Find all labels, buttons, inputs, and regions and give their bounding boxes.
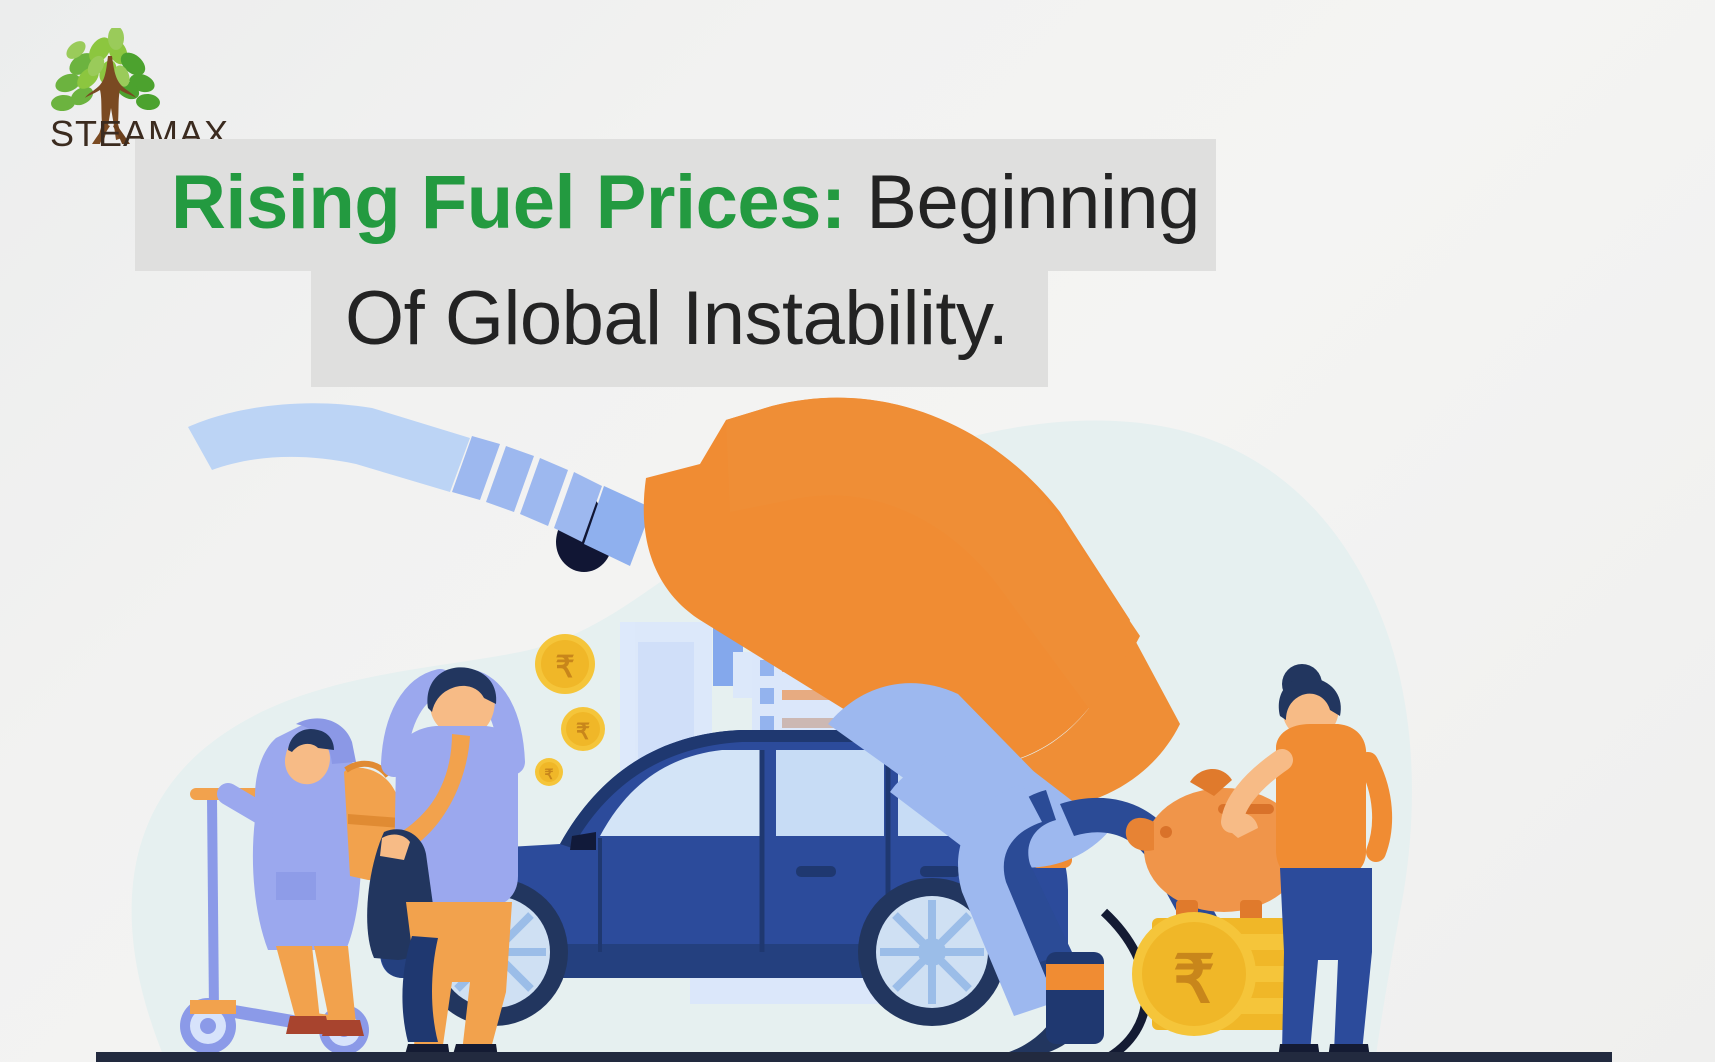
tree-icon: STEAMAX bbox=[30, 28, 240, 153]
rising-fuel-prices-illustration: ₹ ₹ ₹ bbox=[0, 352, 1715, 1062]
car-window-mid bbox=[776, 750, 884, 836]
headline-line-1-box: Rising Fuel Prices: Beginning bbox=[135, 139, 1216, 271]
rupee-glyph: ₹ bbox=[1173, 942, 1215, 1016]
rupee-coin-large: ₹ bbox=[535, 634, 595, 694]
rupee-coin-stack-front: ₹ bbox=[1132, 912, 1256, 1036]
poster-canvas: STEAMAX Rising Fuel Prices: Beginning Of… bbox=[0, 0, 1715, 1062]
coin-stack: ₹ bbox=[1132, 912, 1292, 1036]
rupee-coin-small: ₹ bbox=[535, 758, 563, 786]
rupee-coin-medium: ₹ bbox=[561, 707, 605, 751]
headline-line-2-text: Of Global Instability. bbox=[345, 276, 1008, 361]
headline-highlight: Rising Fuel Prices: bbox=[171, 160, 846, 245]
ground-line bbox=[96, 1052, 1612, 1062]
headline-rest: Beginning bbox=[846, 160, 1200, 245]
headline-line-1: Rising Fuel Prices: Beginning bbox=[135, 139, 1216, 271]
brand-logo[interactable]: STEAMAX bbox=[30, 28, 240, 153]
nozzle-car-connector bbox=[1046, 952, 1104, 1044]
rupee-glyph: ₹ bbox=[555, 651, 574, 684]
woman-top bbox=[1276, 724, 1366, 878]
rupee-glyph: ₹ bbox=[545, 766, 554, 782]
rupee-glyph: ₹ bbox=[576, 719, 590, 744]
